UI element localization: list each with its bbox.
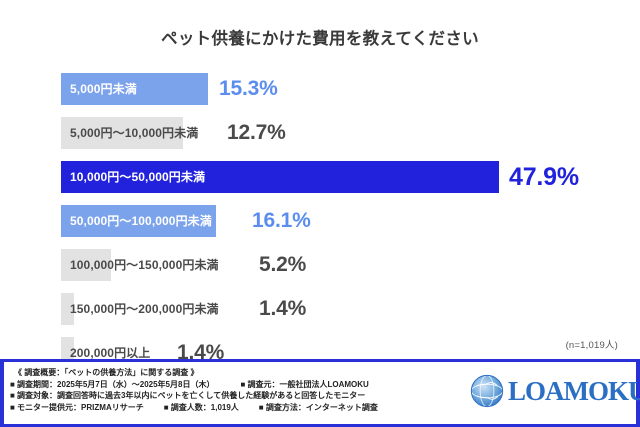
bar-chart: 5,000円未満 15.3% 5,000円〜10,000円未満 12.7% 10…: [61, 73, 581, 333]
bar-category-label: 50,000円〜100,000円未満: [70, 205, 212, 237]
bar-value-label: 47.9%: [509, 161, 579, 193]
survey-period: ■ 調査期間：2025年5月7日（水）〜2025年5月8日（木）: [10, 379, 214, 391]
bar-row: 50,000円〜100,000円未満 16.1%: [61, 205, 581, 237]
respondent-count: ■ 調査人数：1,019人: [164, 402, 239, 414]
bar-row: 5,000円未満 15.3%: [61, 73, 581, 105]
bar-row: 150,000円〜200,000円未満 1.4%: [61, 293, 581, 325]
sample-size-note: (n=1,019人): [566, 337, 618, 351]
bar-category-label: 100,000円〜150,000円未満: [70, 249, 219, 281]
bar-value-label: 12.7%: [227, 117, 286, 149]
bar-row: 5,000円〜10,000円未満 12.7%: [61, 117, 581, 149]
monitor-provider: ■ モニター提供元：PRIZMAリサーチ: [10, 402, 144, 414]
bar-row: 100,000円〜150,000円未満 5.2%: [61, 249, 581, 281]
survey-method: ■ 調査方法：インターネット調査: [259, 402, 378, 414]
logo-wordmark: LOAMOKU: [508, 376, 640, 407]
bar-value-label: 5.2%: [259, 249, 306, 281]
bar-category-label: 10,000円〜50,000円未満: [70, 161, 205, 193]
bar-value-label: 15.3%: [219, 73, 278, 105]
loamoku-logo: LOAMOKU: [470, 369, 622, 413]
bar-category-label: 5,000円〜10,000円未満: [70, 117, 198, 149]
bar-category-label: 5,000円未満: [70, 73, 137, 105]
bar-value-label: 1.4%: [259, 293, 306, 325]
page-title: ペット供養にかけた費用を教えてください: [0, 25, 640, 49]
bar-category-label: 150,000円〜200,000円未満: [70, 293, 219, 325]
footer-content: 《 調査概要：「ペットの供養方法」に関する調査 》 ■ 調査期間：2025年5月…: [4, 362, 636, 424]
footer-band: 《 調査概要：「ペットの供養方法」に関する調査 》 ■ 調査期間：2025年5月…: [0, 359, 640, 427]
globe-icon: [470, 374, 504, 408]
survey-source: ■ 調査元：一般社団法人LOAMOKU: [240, 379, 368, 391]
infographic-page: ペット供養にかけた費用を教えてください 5,000円未満 15.3% 5,000…: [0, 0, 640, 427]
bar-value-label: 16.1%: [252, 205, 311, 237]
bar-row: 10,000円〜50,000円未満 47.9%: [61, 161, 581, 193]
